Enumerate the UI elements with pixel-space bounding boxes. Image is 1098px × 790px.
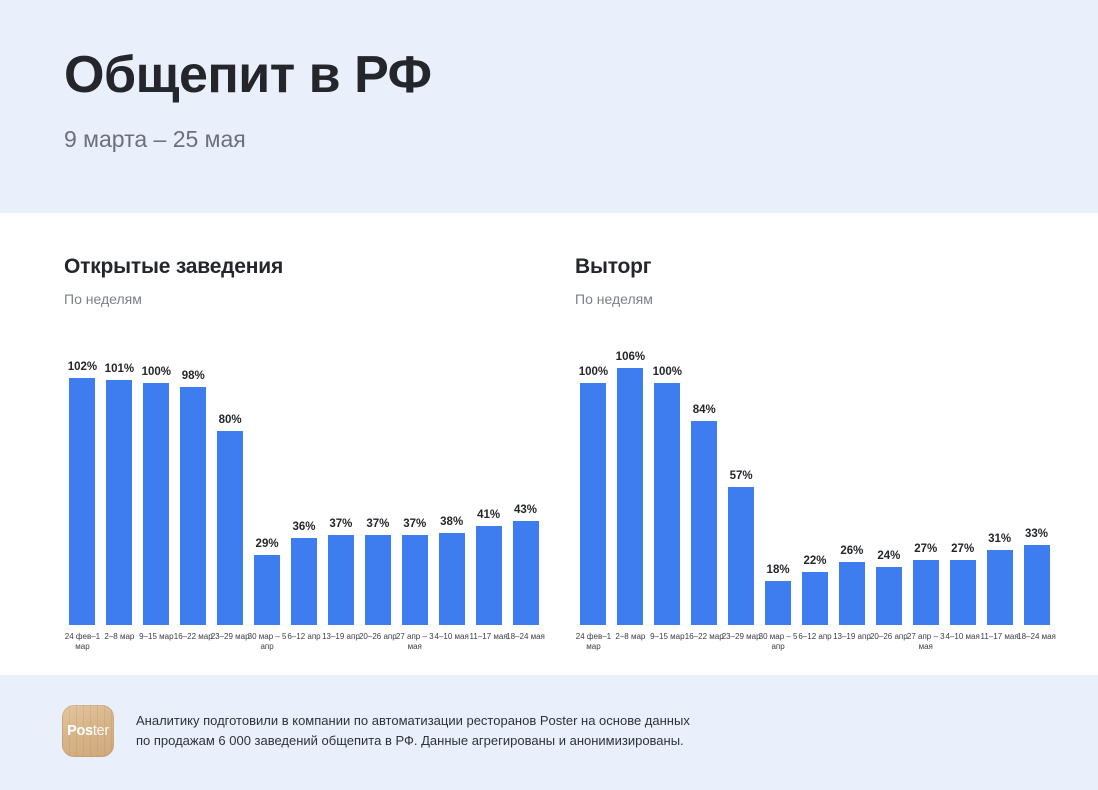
bar-column: 100%9–15 мар (138, 368, 175, 625)
bar-value-label: 27% (907, 543, 944, 555)
bar (439, 533, 465, 625)
bar-column: 98%16–22 мар (175, 368, 212, 625)
bar (254, 555, 280, 625)
bar-value-label: 41% (470, 509, 507, 521)
bar-column: 22%6–12 апр (797, 368, 834, 625)
bar (802, 572, 828, 625)
bar (876, 567, 902, 625)
bar (913, 560, 939, 625)
bar-value-label: 24% (870, 550, 907, 562)
bar (987, 550, 1013, 625)
bar-column: 31%11–17 мая (981, 368, 1018, 625)
bar (328, 535, 354, 625)
chart-plot-area: 100%24 фев–1 мар106%2–8 мар100%9–15 мар8… (575, 323, 1055, 673)
poster-logo: Poster (62, 705, 114, 757)
chart-title: Открытые заведения (64, 255, 283, 279)
bar (765, 581, 791, 625)
bar-column: 37%20–26 апр (359, 368, 396, 625)
bar-column: 29%30 мар – 5 апр (249, 368, 286, 625)
bar-series: 102%24 фев–1 мар101%2–8 мар100%9–15 мар9… (64, 368, 544, 625)
bar-category-label: 18–24 мая (503, 632, 548, 642)
bar (291, 538, 317, 625)
bar (691, 421, 717, 625)
bar-column: 27%4–10 мая (944, 368, 981, 625)
bar-value-label: 57% (723, 470, 760, 482)
bar (143, 383, 169, 625)
bar-column: 100%24 фев–1 мар (575, 368, 612, 625)
bar-value-label: 100% (575, 366, 612, 378)
bar-column: 36%6–12 апр (286, 368, 323, 625)
bar (728, 487, 754, 625)
poster-logo-light: ter (93, 723, 109, 739)
bar (69, 378, 95, 625)
bar (402, 535, 428, 625)
bar (617, 368, 643, 625)
bar (839, 562, 865, 625)
bar-column: 80%23–29 мар (212, 368, 249, 625)
bar-value-label: 27% (944, 543, 981, 555)
bar-value-label: 37% (396, 518, 433, 530)
bar-value-label: 80% (212, 414, 249, 426)
bar-value-label: 31% (981, 533, 1018, 545)
chart-revenue: Выторг По неделям 100%24 фев–1 мар106%2–… (575, 213, 1065, 675)
bar-column: 101%2–8 мар (101, 368, 138, 625)
bar-column: 43%18–24 мая (507, 368, 544, 625)
bar-value-label: 33% (1018, 528, 1055, 540)
bar (365, 535, 391, 625)
chart-subtitle: По неделям (575, 291, 653, 307)
bar-column: 41%11–17 мая (470, 368, 507, 625)
bar-value-label: 102% (64, 361, 101, 373)
bar-value-label: 18% (760, 564, 797, 576)
chart-plot-area: 102%24 фев–1 мар101%2–8 мар100%9–15 мар9… (64, 323, 544, 673)
bar (180, 387, 206, 625)
bar (513, 521, 539, 625)
bar-column: 106%2–8 мар (612, 368, 649, 625)
bar-value-label: 100% (138, 366, 175, 378)
bar-value-label: 37% (359, 518, 396, 530)
bar-column: 84%16–22 мар (686, 368, 723, 625)
bar-column: 24%20–26 апр (870, 368, 907, 625)
bar (106, 380, 132, 625)
footer-line-2: по продажам 6 000 заведений общепита в Р… (136, 731, 736, 751)
bar-column: 18%30 мар – 5 апр (760, 368, 797, 625)
bar (217, 431, 243, 625)
bar-value-label: 26% (833, 545, 870, 557)
poster-logo-bold: Pos (67, 723, 93, 739)
footer-disclaimer: Аналитику подготовили в компании по авто… (136, 711, 736, 751)
bar-column: 102%24 фев–1 мар (64, 368, 101, 625)
bar-value-label: 106% (612, 351, 649, 363)
bar-column: 26%13–19 апр (833, 368, 870, 625)
page-subtitle: 9 марта – 25 мая (64, 126, 246, 153)
bar (950, 560, 976, 625)
bar-column: 37%13–19 апр (322, 368, 359, 625)
bar-value-label: 29% (249, 538, 286, 550)
bar-value-label: 22% (797, 555, 834, 567)
bar (1024, 545, 1050, 625)
chart-title: Выторг (575, 255, 651, 279)
infographic-page: Общепит в РФ 9 марта – 25 мая Открытые з… (0, 0, 1098, 790)
bar (654, 383, 680, 625)
bar-value-label: 100% (649, 366, 686, 378)
header-band: Общепит в РФ 9 марта – 25 мая (0, 0, 1098, 213)
bar-series: 100%24 фев–1 мар106%2–8 мар100%9–15 мар8… (575, 368, 1055, 625)
poster-logo-text: Poster (62, 705, 114, 757)
bar-value-label: 38% (433, 516, 470, 528)
bar-value-label: 43% (507, 504, 544, 516)
bar-column: 33%18–24 мая (1018, 368, 1055, 625)
bar-column: 37%27 апр – 3 мая (396, 368, 433, 625)
bar-value-label: 98% (175, 370, 212, 382)
footer-line-1: Аналитику подготовили в компании по авто… (136, 711, 736, 731)
page-title: Общепит в РФ (64, 47, 431, 104)
charts-section: Открытые заведения По неделям 102%24 фев… (0, 213, 1098, 675)
bar-value-label: 84% (686, 404, 723, 416)
chart-open-venues: Открытые заведения По неделям 102%24 фев… (64, 213, 554, 675)
bar (580, 383, 606, 625)
bar-column: 100%9–15 мар (649, 368, 686, 625)
bar-column: 57%23–29 мар (723, 368, 760, 625)
bar-value-label: 37% (322, 518, 359, 530)
bar-column: 38%4–10 мая (433, 368, 470, 625)
bar-category-label: 18–24 мая (1014, 632, 1059, 642)
chart-subtitle: По неделям (64, 291, 142, 307)
bar-column: 27%27 апр – 3 мая (907, 368, 944, 625)
bar-value-label: 36% (286, 521, 323, 533)
bar-value-label: 101% (101, 363, 138, 375)
bar (476, 526, 502, 625)
